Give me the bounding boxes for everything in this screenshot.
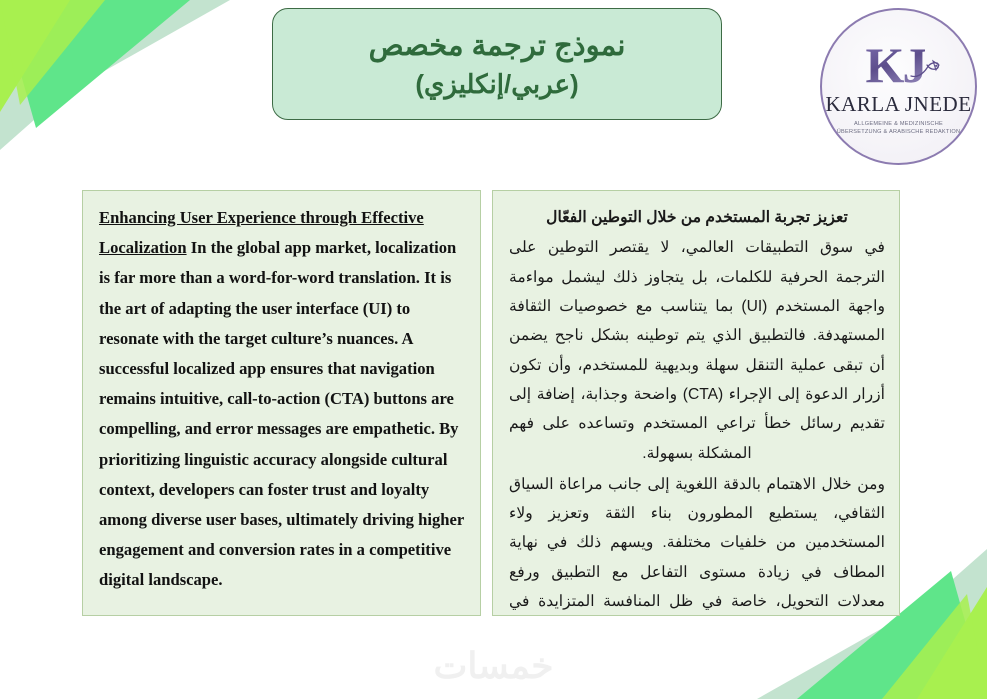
slide-canvas: نموذج ترجمة مخصص (عربي/إنكليزي) KJ KARLA… <box>0 0 987 699</box>
arabic-heading: تعزيز تجربة المستخدم من خلال التوطين الف… <box>509 203 885 232</box>
arabic-paragraph-1: في سوق التطبيقات العالمي، لا يقتصر التوط… <box>509 233 885 468</box>
decoration-top-left <box>0 0 300 200</box>
english-content: Enhancing User Experience through Effect… <box>99 203 466 595</box>
brand-logo: KJ KARLA JNEDE ALLGEMEINE & MEDIZINISCHE… <box>820 8 977 165</box>
page-title: نموذج ترجمة مخصص <box>369 28 626 64</box>
logo-name: KARLA JNEDE <box>825 92 971 117</box>
watermark: خمسات <box>0 645 987 687</box>
title-box: نموذج ترجمة مخصص (عربي/إنكليزي) <box>272 8 722 120</box>
arabic-text-panel: تعزيز تجربة المستخدم من خلال التوطين الف… <box>492 190 900 616</box>
page-subtitle: (عربي/إنكليزي) <box>415 68 578 101</box>
pen-nib-icon <box>909 56 941 82</box>
english-body: In the global app market, localization i… <box>99 238 464 589</box>
arabic-paragraph-2: ومن خلال الاهتمام بالدقة اللغوية إلى جان… <box>509 470 885 616</box>
english-text-panel: Enhancing User Experience through Effect… <box>82 190 481 616</box>
logo-tagline: ALLGEMEINE & MEDIZINISCHE ÜBERSETZUNG & … <box>837 120 961 137</box>
